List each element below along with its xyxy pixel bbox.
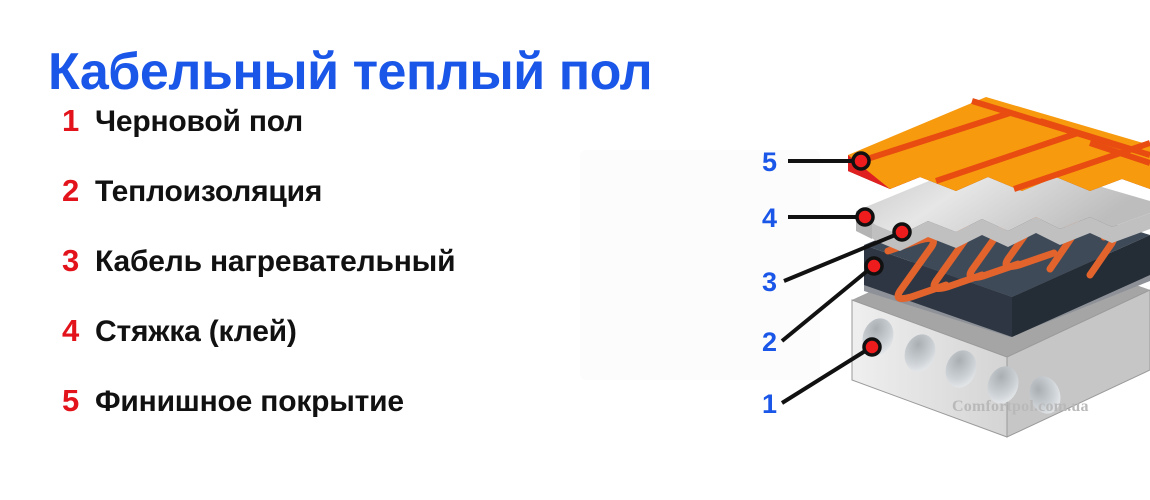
site-watermark: Comfortpol.com.ua bbox=[952, 398, 1089, 416]
legend-number: 4 bbox=[62, 313, 95, 349]
legend-label: Кабель нагревательный bbox=[95, 245, 455, 279]
callout-number-5: 5 bbox=[762, 147, 777, 177]
list-item: 1 Черновой пол bbox=[62, 103, 682, 173]
legend-label: Финишное покрытие bbox=[95, 385, 404, 419]
floor-layers-diagram: 5 4 3 2 1 bbox=[760, 85, 1150, 445]
leader-dot-2 bbox=[866, 258, 882, 274]
list-item: 2 Теплоизоляция bbox=[62, 173, 682, 243]
list-item: 3 Кабель нагревательный bbox=[62, 243, 682, 313]
leader-dot-5 bbox=[853, 153, 869, 169]
legend-number: 3 bbox=[62, 243, 95, 279]
legend-number: 5 bbox=[62, 383, 95, 419]
layer-5-finish-covering bbox=[848, 97, 1150, 191]
legend-number: 1 bbox=[62, 103, 95, 139]
legend-label: Черновой пол bbox=[95, 105, 303, 139]
infographic-page: Кабельный теплый пол 1 Черновой пол 2 Те… bbox=[0, 0, 1150, 500]
callout-number-1: 1 bbox=[762, 389, 777, 419]
leader-dot-3 bbox=[894, 224, 910, 240]
legend-number: 2 bbox=[62, 173, 95, 209]
callout-number-3: 3 bbox=[762, 267, 777, 297]
legend-label: Стяжка (клей) bbox=[95, 315, 297, 349]
legend-list: 1 Черновой пол 2 Теплоизоляция 3 Кабель … bbox=[62, 103, 682, 453]
leader-dot-4 bbox=[857, 209, 873, 225]
leader-dot-1 bbox=[864, 339, 880, 355]
callout-number-4: 4 bbox=[762, 203, 777, 233]
list-item: 5 Финишное покрытие bbox=[62, 383, 682, 453]
list-item: 4 Стяжка (клей) bbox=[62, 313, 682, 383]
legend-label: Теплоизоляция bbox=[95, 175, 322, 209]
callout-number-2: 2 bbox=[762, 327, 777, 357]
page-title: Кабельный теплый пол bbox=[48, 43, 652, 103]
